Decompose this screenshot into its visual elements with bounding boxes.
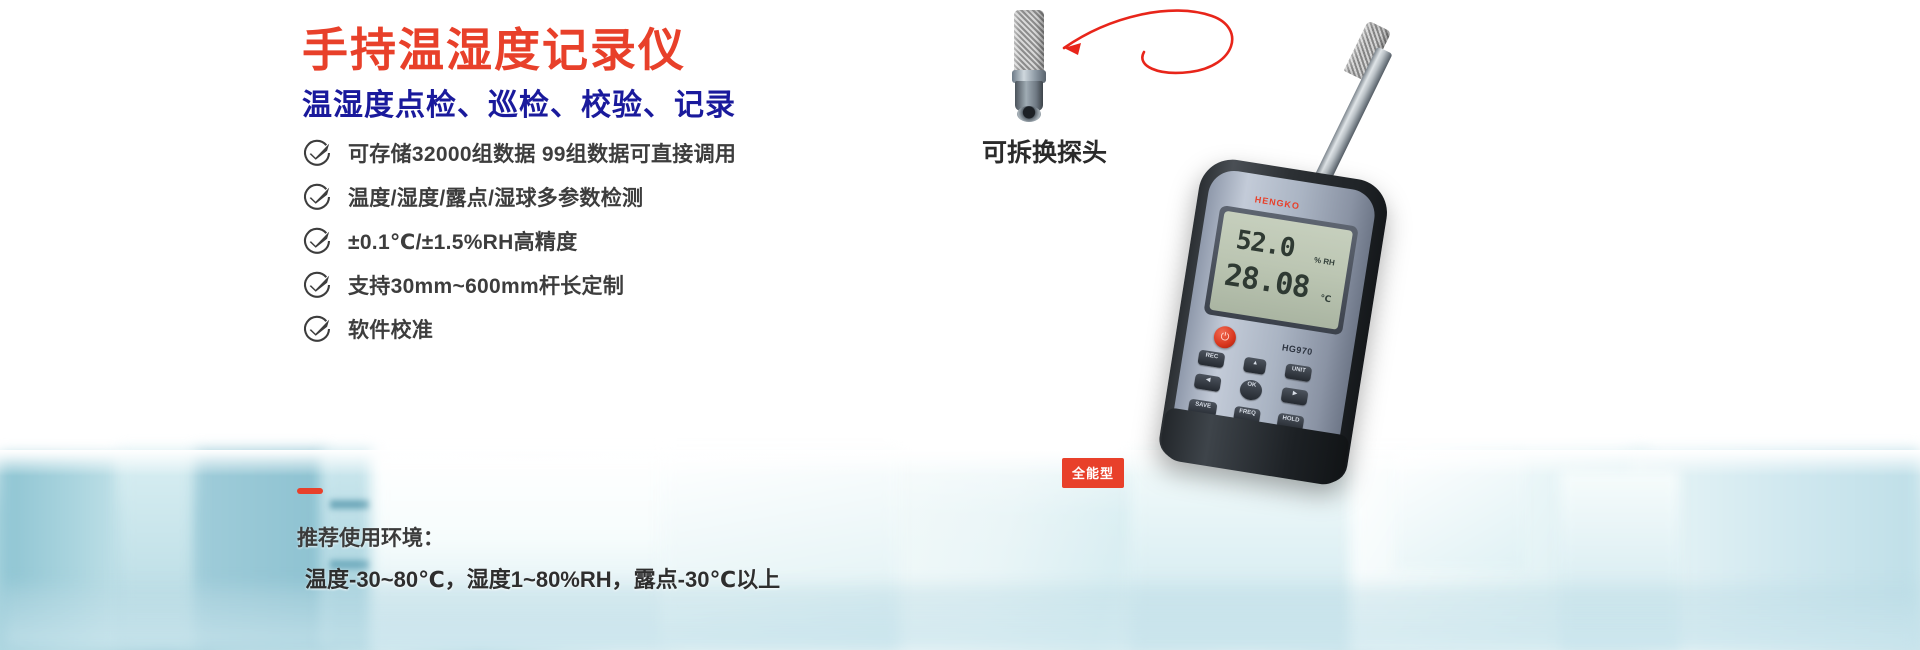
check-circle-icon xyxy=(302,270,332,300)
device-lcd-bezel: 52.0 % RH 28.08 ℃ xyxy=(1203,205,1358,336)
check-circle-icon xyxy=(302,138,332,168)
list-item: 软件校准 xyxy=(302,307,736,351)
lcd-humidity-value: 52.0 xyxy=(1234,225,1297,264)
device-key-ok[interactable]: OK xyxy=(1239,378,1264,401)
lcd-humidity-unit: % RH xyxy=(1313,255,1335,267)
lcd-temperature-unit: ℃ xyxy=(1319,293,1331,306)
list-item-label: 温度/湿度/露点/湿球多参数检测 xyxy=(348,182,643,212)
list-item-label: 支持30mm~600mm杆长定制 xyxy=(348,270,624,300)
background-floor xyxy=(0,585,1920,650)
band-top-fade xyxy=(0,450,1920,476)
background-shelf-rail-upper xyxy=(330,500,370,509)
check-circle-icon xyxy=(302,314,332,344)
list-item: 支持30mm~600mm杆长定制 xyxy=(302,263,736,307)
check-circle-icon xyxy=(302,182,332,212)
red-dash-divider xyxy=(297,488,323,494)
status-badge: 全能型 xyxy=(1062,458,1124,488)
device-lcd-screen: 52.0 % RH 28.08 ℃ xyxy=(1209,211,1353,330)
device-key-left[interactable]: ◀ xyxy=(1194,373,1222,392)
check-circle-icon xyxy=(302,226,332,256)
list-item-label: 可存储32000组数据 99组数据可直接调用 xyxy=(348,138,736,168)
environment-heading: 推荐使用环境： xyxy=(297,522,444,552)
product-banner: 手持温湿度记录仪 温湿度点检、巡检、校验、记录 可存储32000组数据 99组数… xyxy=(0,0,1920,650)
device-key-right[interactable]: ▶ xyxy=(1281,387,1309,406)
device-key-up[interactable]: ▲ xyxy=(1243,357,1267,375)
page-title: 手持温湿度记录仪 xyxy=(302,14,686,80)
list-item-label: ±0.1℃/±1.5%RH高精度 xyxy=(348,226,578,256)
feature-list: 可存储32000组数据 99组数据可直接调用 温度/湿度/露点/湿球多参数检测 … xyxy=(302,131,736,351)
device-key-rec[interactable]: REC xyxy=(1197,349,1225,368)
list-item-label: 软件校准 xyxy=(348,314,433,344)
handheld-meter-device: HENGKO 52.0 % RH 28.08 ℃ ⏻ HG970 REC ▲ U… xyxy=(1020,0,1440,520)
list-item: ±0.1℃/±1.5%RH高精度 xyxy=(302,219,736,263)
list-item: 温度/湿度/露点/湿球多参数检测 xyxy=(302,175,736,219)
page-subtitle: 温湿度点检、巡检、校验、记录 xyxy=(302,80,736,124)
lcd-temperature-value: 28.08 xyxy=(1222,258,1312,306)
device-key-unit[interactable]: UNIT xyxy=(1284,363,1312,382)
environment-detail: 温度-30~80℃，湿度1~80%RH，露点-30℃以上 xyxy=(305,562,780,594)
list-item: 可存储32000组数据 99组数据可直接调用 xyxy=(302,131,736,175)
